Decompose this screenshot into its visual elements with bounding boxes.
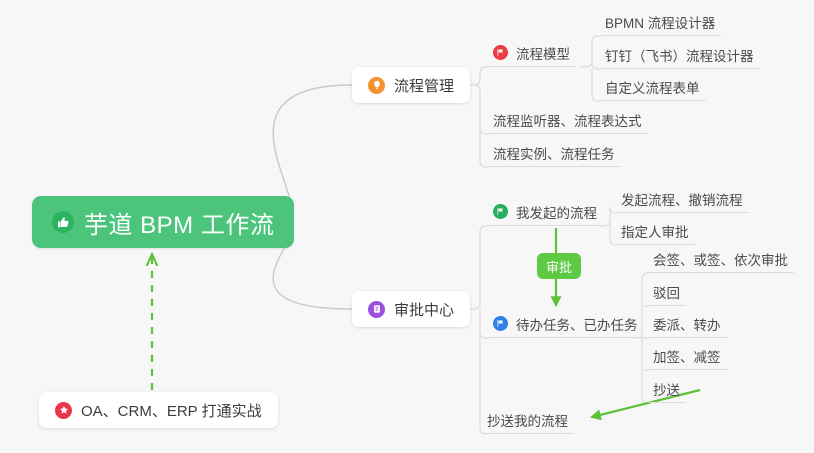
node-label-process-model: 流程模型 (516, 43, 570, 63)
edge-model-to-dingtalk (592, 61, 601, 69)
branch-label-process-management: 流程管理 (394, 75, 454, 96)
node-my-initiated-process[interactable]: 我发起的流程 (489, 198, 603, 226)
edge-mine-to-assignee (610, 220, 617, 245)
red-star-icon (55, 402, 72, 419)
edge-pm-to-listener (474, 85, 489, 134)
clipboard-icon (368, 301, 385, 318)
node-label-delegate-transfer: 委派、转办 (653, 314, 721, 334)
node-process-instance-task[interactable]: 流程实例、流程任务 (489, 139, 621, 167)
node-start-cancel-process[interactable]: 发起流程、撤销流程 (617, 185, 749, 213)
blue-flag-icon (493, 316, 508, 331)
node-label-process-listener-expression: 流程监听器、流程表达式 (493, 110, 642, 130)
integration-card-label: OA、CRM、ERP 打通实战 (81, 400, 262, 421)
node-label-reject: 驳回 (653, 282, 680, 302)
node-label-cc-to-me-process: 抄送我的流程 (487, 410, 568, 430)
edge-todo-to-addsign (642, 338, 649, 370)
node-process-model[interactable]: 流程模型 (489, 39, 576, 67)
branch-label-approval-center: 审批中心 (394, 299, 454, 320)
node-label-start-cancel-process: 发起流程、撤销流程 (621, 189, 743, 209)
node-label-my-initiated-process: 我发起的流程 (516, 202, 597, 222)
thumbs-up-icon (52, 211, 74, 233)
node-cc-copy[interactable]: 抄送 (649, 375, 686, 403)
root-node[interactable]: 芋道 BPM 工作流 (32, 196, 294, 248)
edge-pm-to-instance (480, 128, 489, 167)
branch-node-approval-center[interactable]: 审批中心 (352, 291, 470, 327)
mindmap-canvas: 芋道 BPM 工作流 流程管理 流程模型 BPMN 流程设计器 钉钉（飞书）流程… (0, 0, 814, 453)
node-label-custom-process-form: 自定义流程表单 (605, 77, 700, 97)
approval-badge[interactable]: 审批 (537, 253, 581, 279)
node-label-process-instance-task: 流程实例、流程任务 (493, 143, 615, 163)
node-cc-to-me-process[interactable]: 抄送我的流程 (483, 406, 574, 434)
edge-ac-to-todo (480, 309, 489, 338)
edge-model-to-bpmn (580, 36, 601, 67)
node-countersign-orsign-sequential[interactable]: 会签、或签、依次审批 (649, 245, 794, 273)
node-dingtalk-feishu-designer[interactable]: 钉钉（飞书）流程设计器 (601, 41, 760, 69)
node-custom-process-form[interactable]: 自定义流程表单 (601, 73, 706, 101)
node-label-bpmn-designer: BPMN 流程设计器 (605, 12, 715, 32)
edge-todo-to-cc (642, 370, 649, 403)
node-process-listener-expression[interactable]: 流程监听器、流程表达式 (489, 106, 648, 134)
edge-model-to-customform (592, 69, 601, 101)
node-label-dingtalk-feishu-designer: 钉钉（飞书）流程设计器 (605, 45, 754, 65)
node-assignee-approval[interactable]: 指定人审批 (617, 217, 695, 245)
node-todo-done-tasks[interactable]: 待办任务、已办任务 (489, 310, 644, 338)
node-label-todo-done-tasks: 待办任务、已办任务 (516, 314, 638, 334)
branch-node-process-management[interactable]: 流程管理 (352, 67, 470, 103)
node-label-assignee-approval: 指定人审批 (621, 221, 689, 241)
lightbulb-icon (368, 77, 385, 94)
root-label: 芋道 BPM 工作流 (84, 205, 274, 240)
node-add-remove-sign[interactable]: 加签、减签 (649, 342, 727, 370)
integration-card[interactable]: OA、CRM、ERP 打通实战 (39, 392, 278, 428)
red-flag-icon (493, 45, 508, 60)
node-delegate-transfer[interactable]: 委派、转办 (649, 310, 727, 338)
node-reject[interactable]: 驳回 (649, 278, 686, 306)
node-bpmn-designer[interactable]: BPMN 流程设计器 (601, 8, 721, 36)
node-label-countersign-orsign-sequential: 会签、或签、依次审批 (653, 249, 788, 269)
approval-badge-label: 审批 (546, 257, 572, 276)
green-flag-icon (493, 204, 508, 219)
node-label-cc-copy: 抄送 (653, 379, 680, 399)
node-label-add-remove-sign: 加签、减签 (653, 346, 721, 366)
